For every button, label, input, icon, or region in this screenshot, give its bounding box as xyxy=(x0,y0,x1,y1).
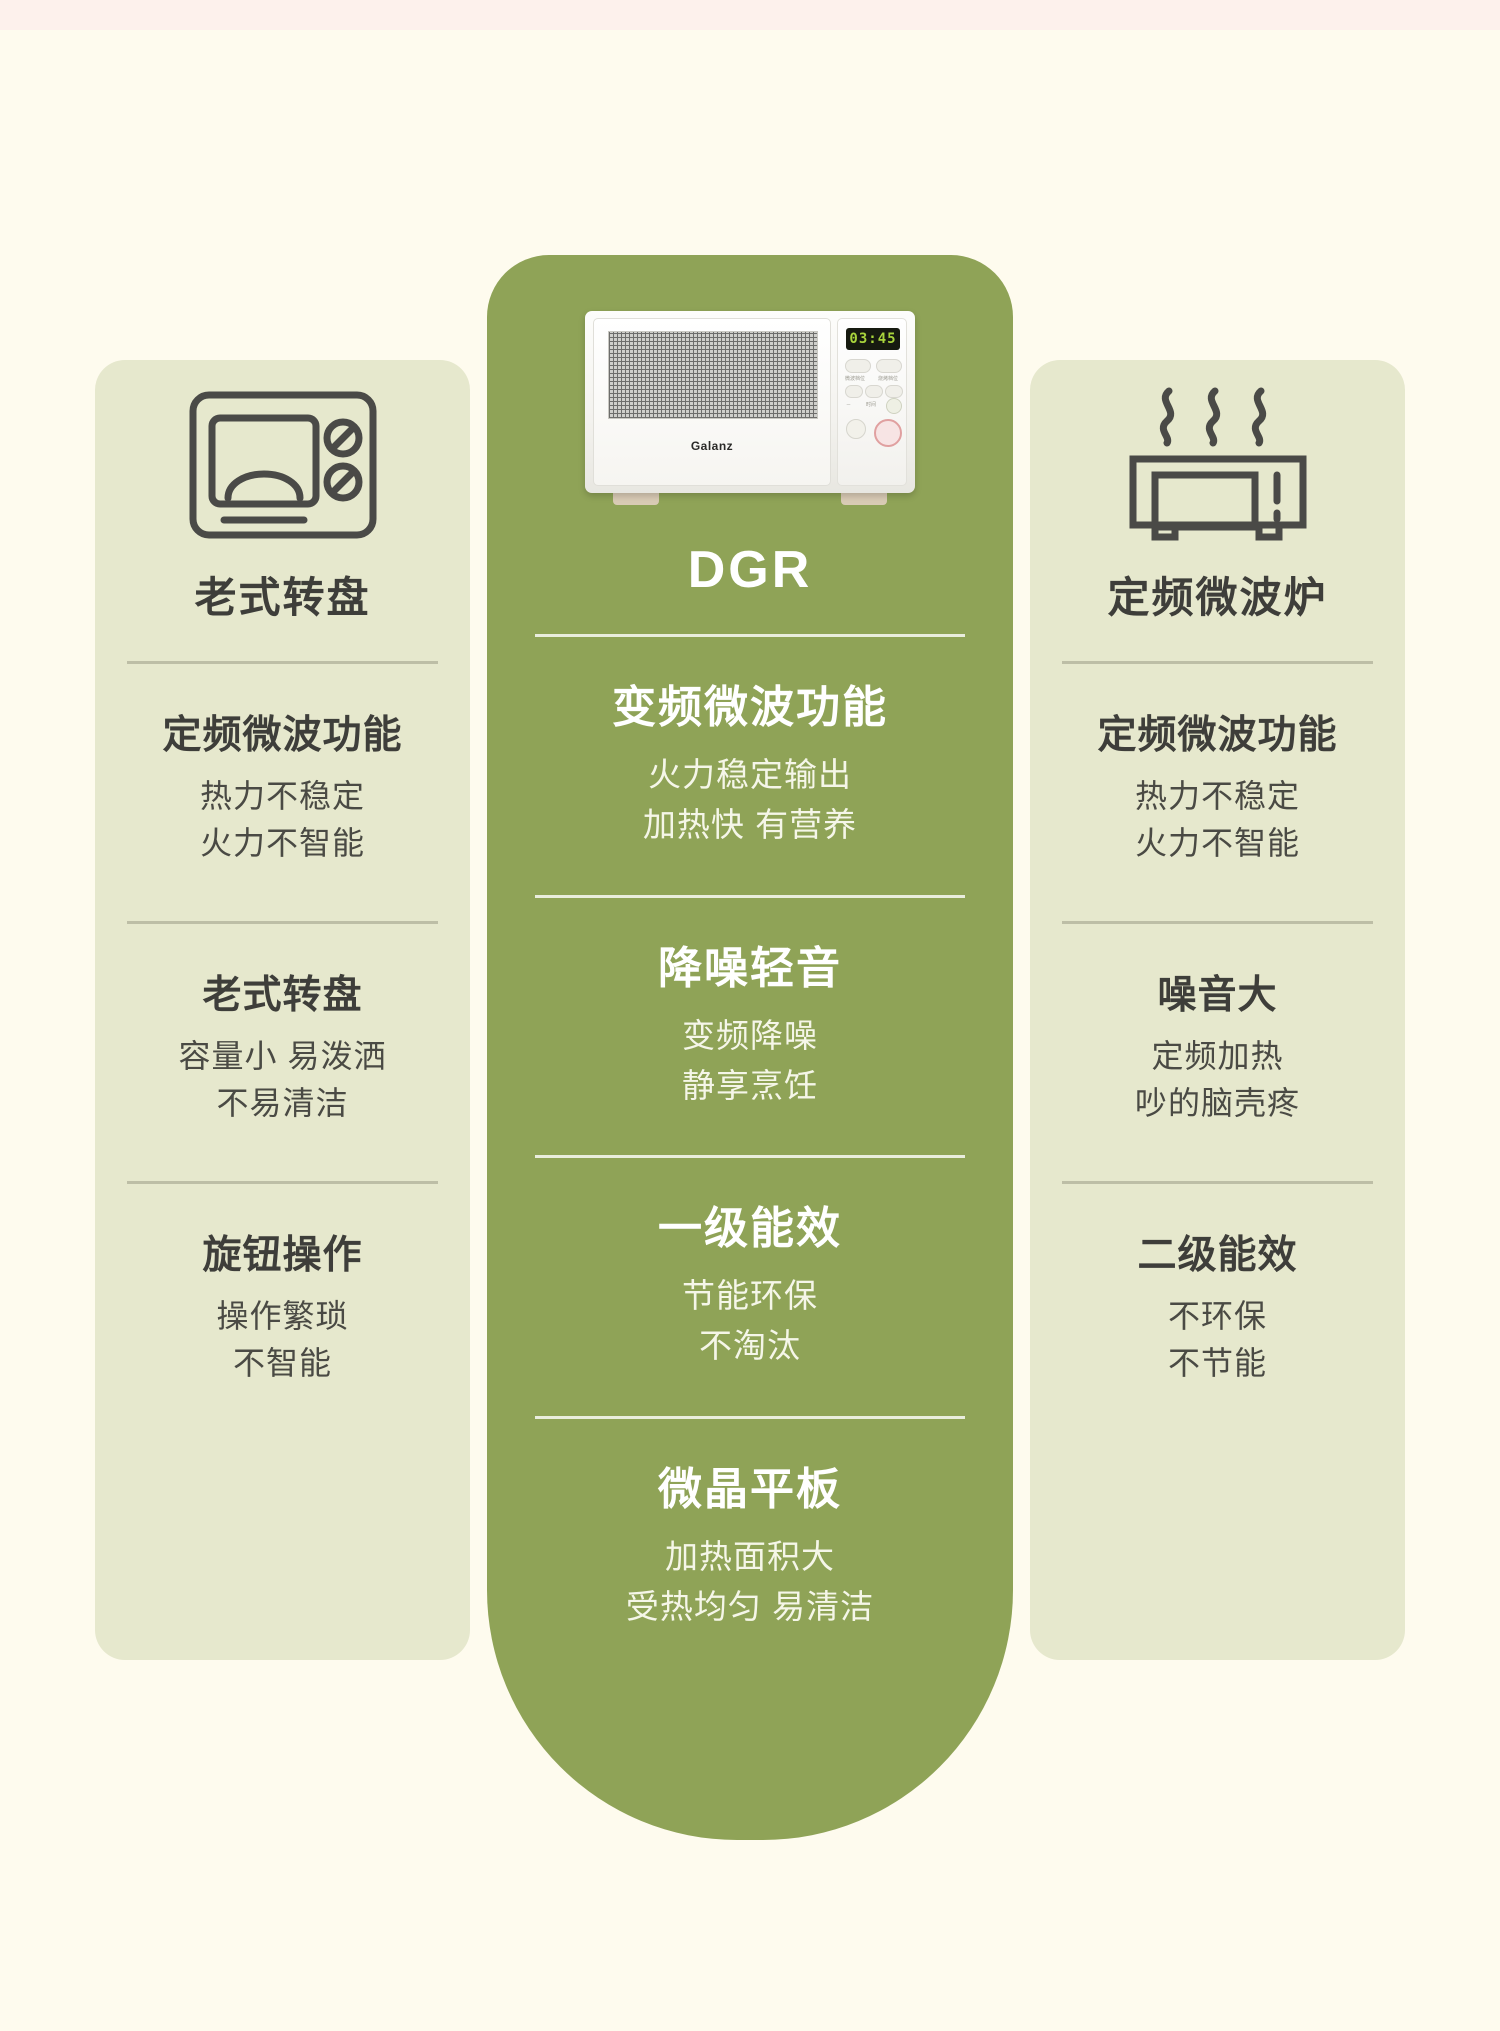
feature-line: 不环保 xyxy=(1048,1294,1387,1339)
feature-title: 二级能效 xyxy=(1048,1224,1387,1280)
feature-line: 不节能 xyxy=(1048,1341,1387,1386)
feature-line: 吵的脑壳疼 xyxy=(1048,1081,1387,1126)
feature-title: 降噪轻音 xyxy=(513,932,987,996)
feature-line: 变频降噪 xyxy=(513,1012,987,1060)
steaming-microwave-icon xyxy=(1048,360,1387,570)
feature-line: 加热面积大 xyxy=(513,1533,987,1581)
galanz-microwave-photo: Galanz 03:45 微波档位 烧烤档位 － 时间 xyxy=(513,255,987,538)
feature-block: 老式转盘 容量小 易泼洒 不易清洁 xyxy=(113,924,452,1127)
feature-line: 操作繁琐 xyxy=(113,1294,452,1339)
microwave-body: Galanz 03:45 微波档位 烧烤档位 － 时间 xyxy=(585,311,915,493)
feature-title: 定频微波功能 xyxy=(113,704,452,760)
feature-block: 旋钮操作 操作繁琐 不智能 xyxy=(113,1184,452,1387)
plus-knob-icon[interactable] xyxy=(886,398,902,414)
card-title-left: 老式转盘 xyxy=(113,564,452,625)
comparison-card-left: 老式转盘 定频微波功能 热力不稳定 火力不智能 老式转盘 容量小 易泼洒 不易清… xyxy=(95,360,470,1660)
comparison-stage: 老式转盘 定频微波功能 热力不稳定 火力不智能 老式转盘 容量小 易泼洒 不易清… xyxy=(0,30,1500,2031)
feature-line: 受热均匀 易清洁 xyxy=(513,1583,987,1631)
divider xyxy=(127,921,438,924)
divider xyxy=(535,1155,965,1158)
panel-button[interactable] xyxy=(885,385,903,398)
feature-title: 微晶平板 xyxy=(513,1453,987,1517)
feature-line: 加热快 有营养 xyxy=(513,801,987,849)
feature-line: 定频加热 xyxy=(1048,1034,1387,1079)
old-turntable-microwave-icon xyxy=(113,360,452,570)
microwave-door: Galanz xyxy=(593,318,831,486)
feature-block: 一级能效 节能环保 不淘汰 xyxy=(513,1158,987,1370)
feature-title: 老式转盘 xyxy=(113,964,452,1020)
feature-title: 噪音大 xyxy=(1048,964,1387,1020)
feature-line: 静享烹饪 xyxy=(513,1062,987,1110)
feature-block: 定频微波功能 热力不稳定 火力不智能 xyxy=(1048,664,1387,867)
divider xyxy=(535,634,965,637)
feature-line: 火力不智能 xyxy=(113,821,452,866)
feature-block: 定频微波功能 热力不稳定 火力不智能 xyxy=(113,664,452,867)
brand-label: Galanz xyxy=(594,439,830,453)
divider xyxy=(535,895,965,898)
panel-button[interactable] xyxy=(845,359,871,373)
start-button[interactable] xyxy=(874,419,902,447)
feature-line: 不智能 xyxy=(113,1341,452,1386)
feature-line: 火力稳定输出 xyxy=(513,751,987,799)
feature-line: 火力不智能 xyxy=(1048,821,1387,866)
comparison-card-center: Galanz 03:45 微波档位 烧烤档位 － 时间 xyxy=(487,255,1013,1840)
top-accent-strip xyxy=(0,0,1500,30)
card-title-right: 定频微波炉 xyxy=(1048,564,1387,625)
divider xyxy=(1062,661,1373,664)
microwave-mesh-window xyxy=(608,331,818,419)
feature-line: 热力不稳定 xyxy=(113,774,452,819)
feature-title: 一级能效 xyxy=(513,1192,987,1256)
feature-line: 不淘汰 xyxy=(513,1322,987,1370)
feature-block: 二级能效 不环保 不节能 xyxy=(1048,1184,1387,1387)
feature-block: 噪音大 定频加热 吵的脑壳疼 xyxy=(1048,924,1387,1127)
divider xyxy=(1062,1181,1373,1184)
lcd-display[interactable]: 03:45 xyxy=(846,328,900,350)
microwave-device: Galanz 03:45 微波档位 烧烤档位 － 时间 xyxy=(585,311,915,511)
divider xyxy=(127,1181,438,1184)
card-title-center: DGR xyxy=(513,540,987,600)
feature-title: 旋钮操作 xyxy=(113,1224,452,1280)
panel-button[interactable] xyxy=(845,385,863,398)
feature-line: 热力不稳定 xyxy=(1048,774,1387,819)
feature-block: 微晶平板 加热面积大 受热均匀 易清洁 xyxy=(513,1419,987,1631)
feature-line: 不易清洁 xyxy=(113,1081,452,1126)
panel-button[interactable] xyxy=(876,359,902,373)
feature-line: 容量小 易泼洒 xyxy=(113,1034,452,1079)
divider xyxy=(127,661,438,664)
feature-title: 变频微波功能 xyxy=(513,671,987,735)
control-panel: 03:45 微波档位 烧烤档位 － 时间 xyxy=(837,318,907,486)
comparison-card-right: 定频微波炉 定频微波功能 热力不稳定 火力不智能 噪音大 定频加热 吵的脑壳疼 … xyxy=(1030,360,1405,1660)
feature-block: 变频微波功能 火力稳定输出 加热快 有营养 xyxy=(513,637,987,849)
feature-title: 定频微波功能 xyxy=(1048,704,1387,760)
feature-line: 节能环保 xyxy=(513,1272,987,1320)
divider xyxy=(535,1416,965,1419)
panel-button[interactable] xyxy=(865,385,883,398)
feature-block: 降噪轻音 变频降噪 静享烹饪 xyxy=(513,898,987,1110)
divider xyxy=(1062,921,1373,924)
panel-knob[interactable] xyxy=(846,419,866,439)
